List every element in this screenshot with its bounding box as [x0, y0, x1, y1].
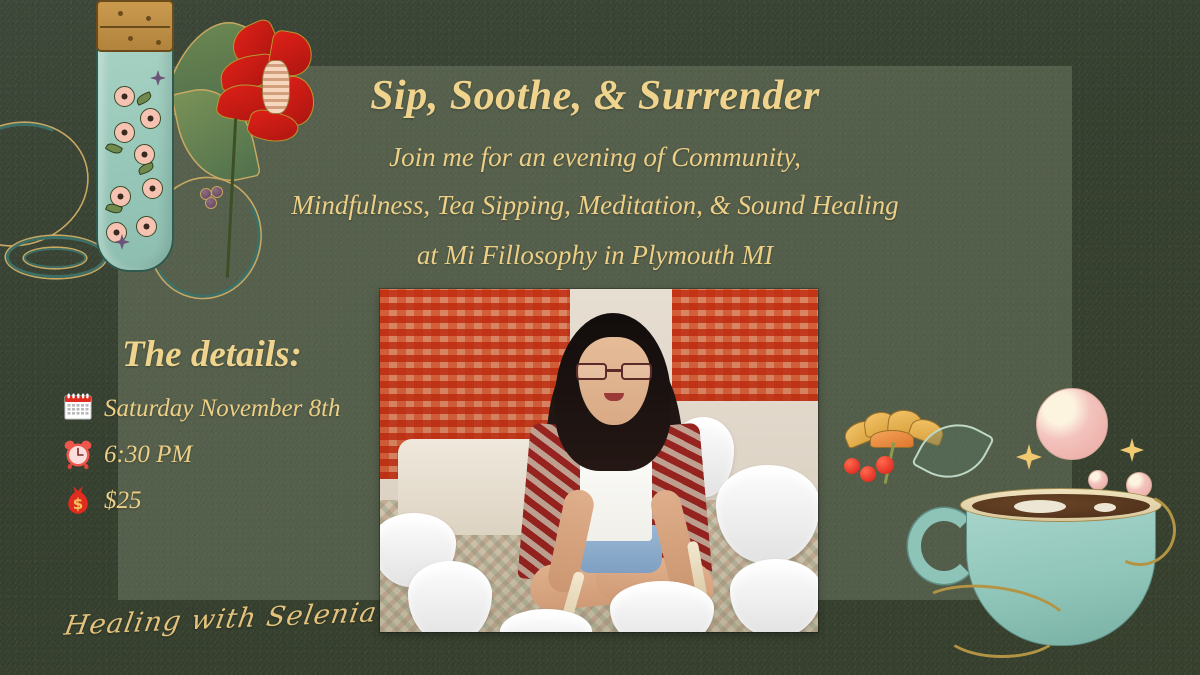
subtitle-line-2: Mindfulness, Tea Sipping, Meditation, & … — [118, 190, 1072, 221]
subtitle-line-3: at Mi Fillosophy in Plymouth MI — [118, 240, 1072, 271]
sparkle-star-icon — [1120, 438, 1144, 462]
detail-row-price: $ $25 — [62, 478, 341, 524]
cork-stopper-icon — [96, 0, 174, 52]
berry-icon — [860, 466, 876, 482]
singing-bowl-icon — [408, 561, 492, 632]
singing-bowl-icon — [610, 581, 714, 632]
signature-text: Healing with Selenia — [62, 597, 380, 641]
detail-row-date: Saturday November 8th — [62, 386, 341, 432]
bubble-large-icon — [1036, 388, 1108, 460]
eyeglasses-icon — [576, 363, 652, 380]
detail-row-time: 6:30 PM — [62, 432, 341, 478]
subtitle-line-1: Join me for an evening of Community, — [118, 142, 1072, 173]
detail-time-text: 6:30 PM — [104, 441, 192, 469]
singing-bowl-icon — [716, 465, 818, 563]
event-flyer: Sip, Soothe, & Surrender Join me for an … — [0, 0, 1200, 675]
berry-icon — [876, 456, 894, 474]
singing-bowl-icon — [730, 559, 818, 632]
details-heading: The details: — [122, 333, 302, 376]
calendar-icon — [62, 391, 94, 427]
detail-date-text: Saturday November 8th — [104, 395, 341, 423]
curtain-icon — [672, 289, 818, 401]
event-photo — [380, 289, 818, 632]
berry-icon — [844, 458, 860, 474]
bubble-small-icon — [1088, 470, 1108, 490]
details-list: Saturday November 8th 6:30 PM — [62, 386, 341, 524]
ribbon-loop-inner-icon — [24, 248, 86, 268]
detail-price-text: $25 — [104, 487, 142, 515]
gold-swirl-icon — [942, 602, 1062, 658]
sparkle-star-icon — [1016, 444, 1042, 470]
flyer-title: Sip, Soothe, & Surrender — [118, 72, 1072, 120]
teacup-decoration — [830, 380, 1200, 675]
money-bag-icon: $ — [62, 483, 94, 519]
svg-text:$: $ — [73, 495, 83, 513]
alarm-clock-icon — [62, 437, 94, 473]
